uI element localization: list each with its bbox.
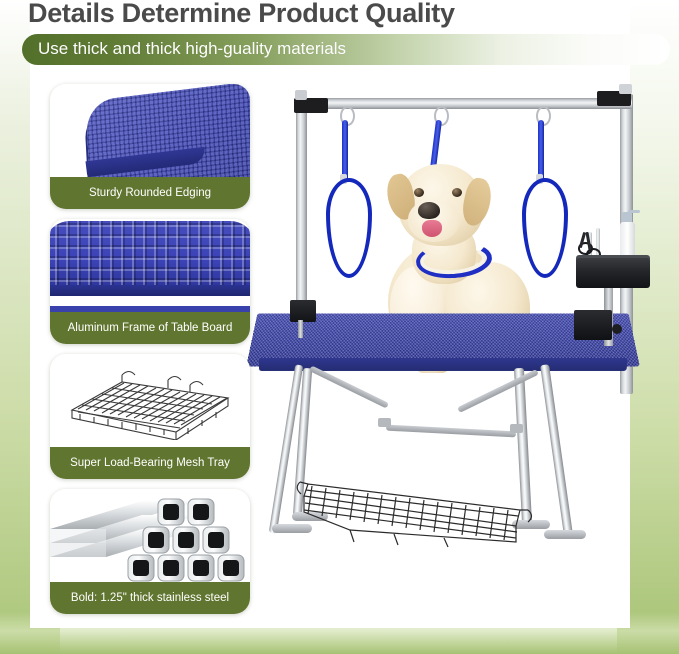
product-infographic: Details Determine Product Quality Use th…: [0, 0, 679, 654]
arm-cap-left: [295, 90, 307, 100]
dog-nose: [418, 202, 440, 219]
table-foot-back-right: [544, 530, 586, 539]
caddy-clamp-knob: [612, 324, 622, 334]
folding-brace-left: [309, 365, 389, 408]
noose-strap: [342, 120, 348, 182]
mesh-tray-icon: [64, 362, 236, 440]
board-edge-band-icon: [50, 285, 250, 296]
feature-card-rounded-edging[interactable]: Sturdy Rounded Edging: [50, 84, 250, 209]
steel-tubes-icon: [50, 489, 250, 582]
arm-bracket-left: [294, 98, 328, 113]
feature-card-aluminum-frame[interactable]: Aluminum Frame of Table Board: [50, 219, 250, 344]
table-leg-back-right: [540, 364, 573, 536]
feature-label-mesh-tray: Super Load-Bearing Mesh Tray: [50, 447, 250, 479]
feature-image-rounded-edging: [50, 84, 250, 177]
feature-card-steel-tube[interactable]: Bold: 1.25" thick stainless steel: [50, 489, 250, 614]
arm-cap-right: [619, 84, 632, 94]
dog-eye-left: [414, 188, 424, 197]
feature-label-aluminum-frame: Aluminum Frame of Table Board: [50, 312, 250, 344]
feature-image-mesh-tray: [50, 354, 250, 447]
feature-label-rounded-edging: Sturdy Rounded Edging: [50, 177, 250, 209]
wire-mesh-storage-tray: [294, 470, 544, 548]
subtitle-text: Use thick and thick high-guality materia…: [38, 39, 346, 59]
waffle-board-icon: [50, 221, 250, 293]
leg-hinge-right: [510, 424, 523, 433]
page-title: Details Determine Product Quality: [28, 0, 455, 29]
dog-eye-right: [452, 188, 462, 197]
feature-card-mesh-tray[interactable]: Super Load-Bearing Mesh Tray: [50, 354, 250, 479]
folding-brace-right: [457, 369, 539, 413]
product-photo: [268, 72, 672, 612]
accessory-caddy: [576, 258, 650, 288]
arm-table-clamp: [290, 300, 316, 322]
dog-tongue: [422, 220, 442, 237]
feature-label-steel-tube: Bold: 1.25" thick stainless steel: [50, 582, 250, 614]
board-white-gap: [50, 296, 250, 306]
arm-clamp-screw: [298, 320, 303, 338]
leg-hinge-left: [378, 418, 391, 427]
caddy-clamp: [574, 310, 612, 340]
feature-image-steel-tube: [50, 489, 250, 582]
feature-image-aluminum-frame: [50, 219, 250, 312]
cross-brace: [386, 425, 516, 438]
